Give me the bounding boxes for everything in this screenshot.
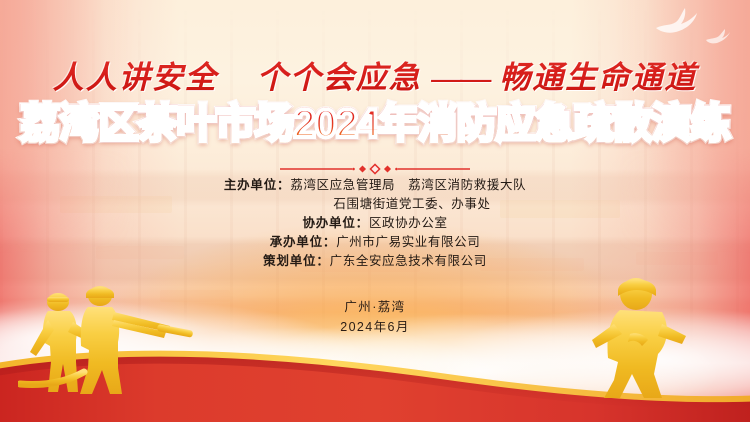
credit-label: 承办单位： — [270, 235, 337, 249]
credit-value: 广东全安应急技术有限公司 — [330, 254, 487, 268]
credit-value: 石围塘街道党工委、办事处 — [333, 197, 490, 211]
credit-value: 区政协办公室 — [369, 216, 448, 230]
credit-row: 主办单位：荔湾区应急管理局 荔湾区消防救援大队 — [0, 176, 750, 195]
footer-location: 广州·荔湾 — [0, 297, 750, 317]
slogan-part-1: 人人讲安全 — [53, 60, 218, 95]
credit-label: 协办单位： — [302, 216, 369, 230]
credit-row: 承办单位：广州市广易实业有限公司 — [0, 233, 750, 252]
slogan-dash: —— — [432, 60, 490, 95]
credit-label: 策划单位： — [263, 254, 330, 268]
credit-row: 协办单位：区政协办公室 — [0, 214, 750, 233]
footer-date: 2024年6月 — [0, 317, 750, 337]
credit-value: 荔湾区应急管理局 荔湾区消防救援大队 — [290, 178, 526, 192]
credit-row: 石围塘街道党工委、办事处 — [0, 195, 750, 214]
slogan-part-3: 畅通生命通道 — [499, 60, 697, 95]
poster-headline: 荔湾区茶叶市场2024年消防应急疏散演练 — [0, 104, 750, 144]
credit-label: 主办单位： — [224, 178, 291, 192]
credits-block: 主办单位：荔湾区应急管理局 荔湾区消防救援大队 石围塘街道党工委、办事处 协办单… — [0, 176, 750, 271]
text-layer: 人人讲安全 个个会应急 —— 畅通生命通道 荔湾区茶叶市场2024年消防应急疏散… — [0, 0, 750, 422]
poster-canvas: 人人讲安全 个个会应急 —— 畅通生命通道 荔湾区茶叶市场2024年消防应急疏散… — [0, 0, 750, 422]
credit-row: 策划单位：广东全安应急技术有限公司 — [0, 252, 750, 271]
slogan-part-2: 个个会应急 — [257, 60, 422, 95]
footer-block: 广州·荔湾 2024年6月 — [0, 297, 750, 337]
credit-value: 广州市广易实业有限公司 — [336, 235, 480, 249]
slogan-line: 人人讲安全 个个会应急 —— 畅通生命通道 — [0, 52, 750, 97]
